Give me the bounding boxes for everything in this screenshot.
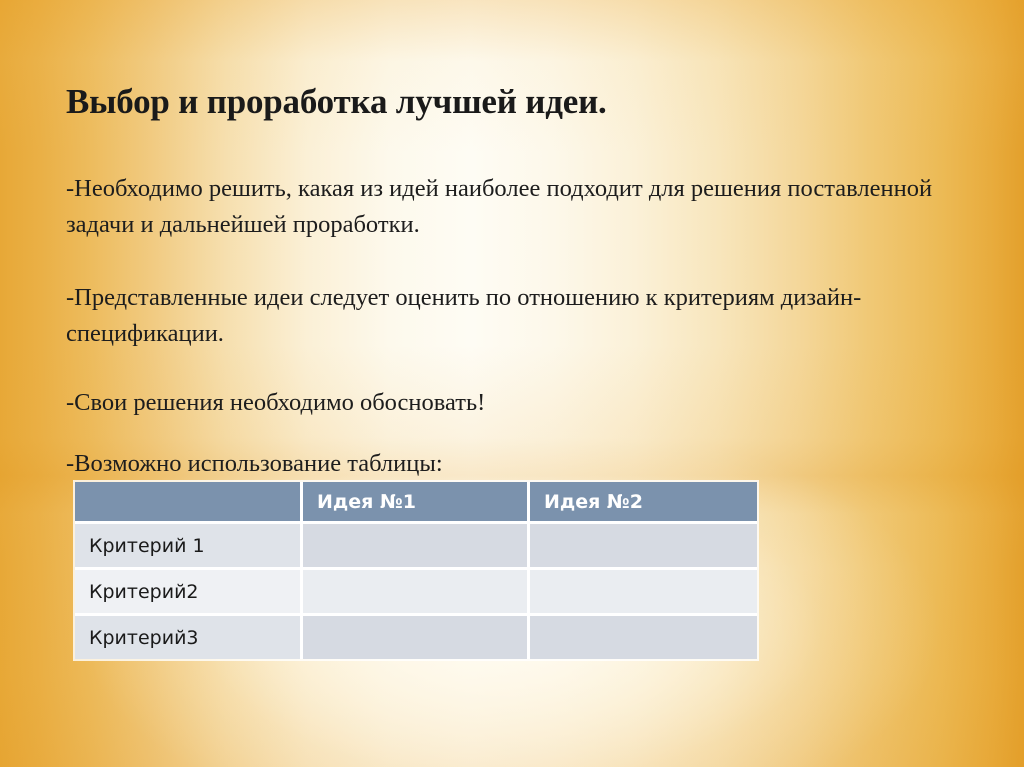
criterion-label-3: Критерий3	[75, 616, 303, 659]
cell-criterion-3-idea-1[interactable]	[303, 616, 530, 659]
table-row: Критерий 1	[75, 524, 757, 570]
cell-criterion-1-idea-2[interactable]	[530, 524, 757, 570]
body-paragraph-3: -Свои решения необходимо обосновать!	[66, 385, 946, 421]
body-paragraph-4: -Возможно использование таблицы:	[66, 446, 946, 482]
table-row: Критерий2	[75, 570, 757, 616]
slide-title: Выбор и проработка лучшей идеи.	[66, 82, 966, 122]
criterion-label-1: Критерий 1	[75, 524, 303, 570]
cell-criterion-2-idea-1[interactable]	[303, 570, 530, 616]
body-paragraph-1: -Необходимо решить, какая из идей наибол…	[66, 171, 946, 243]
cell-criterion-2-idea-2[interactable]	[530, 570, 757, 616]
table-header-idea-1: Идея №1	[303, 482, 530, 524]
table-body: Критерий 1 Критерий2 Критерий3	[75, 524, 757, 659]
table-row: Критерий3	[75, 616, 757, 659]
cell-criterion-1-idea-1[interactable]	[303, 524, 530, 570]
criteria-comparison-table: Идея №1 Идея №2 Критерий 1 Критерий2 Кри…	[75, 482, 757, 659]
table-header-corner	[75, 482, 303, 524]
criterion-label-2: Критерий2	[75, 570, 303, 616]
table-header-row: Идея №1 Идея №2	[75, 482, 757, 524]
cell-criterion-3-idea-2[interactable]	[530, 616, 757, 659]
body-paragraph-2: -Представленные идеи следует оценить по …	[66, 280, 946, 352]
table-header: Идея №1 Идея №2	[75, 482, 757, 524]
slide-canvas: Выбор и проработка лучшей идеи. -Необход…	[0, 0, 1024, 767]
table-header-idea-2: Идея №2	[530, 482, 757, 524]
